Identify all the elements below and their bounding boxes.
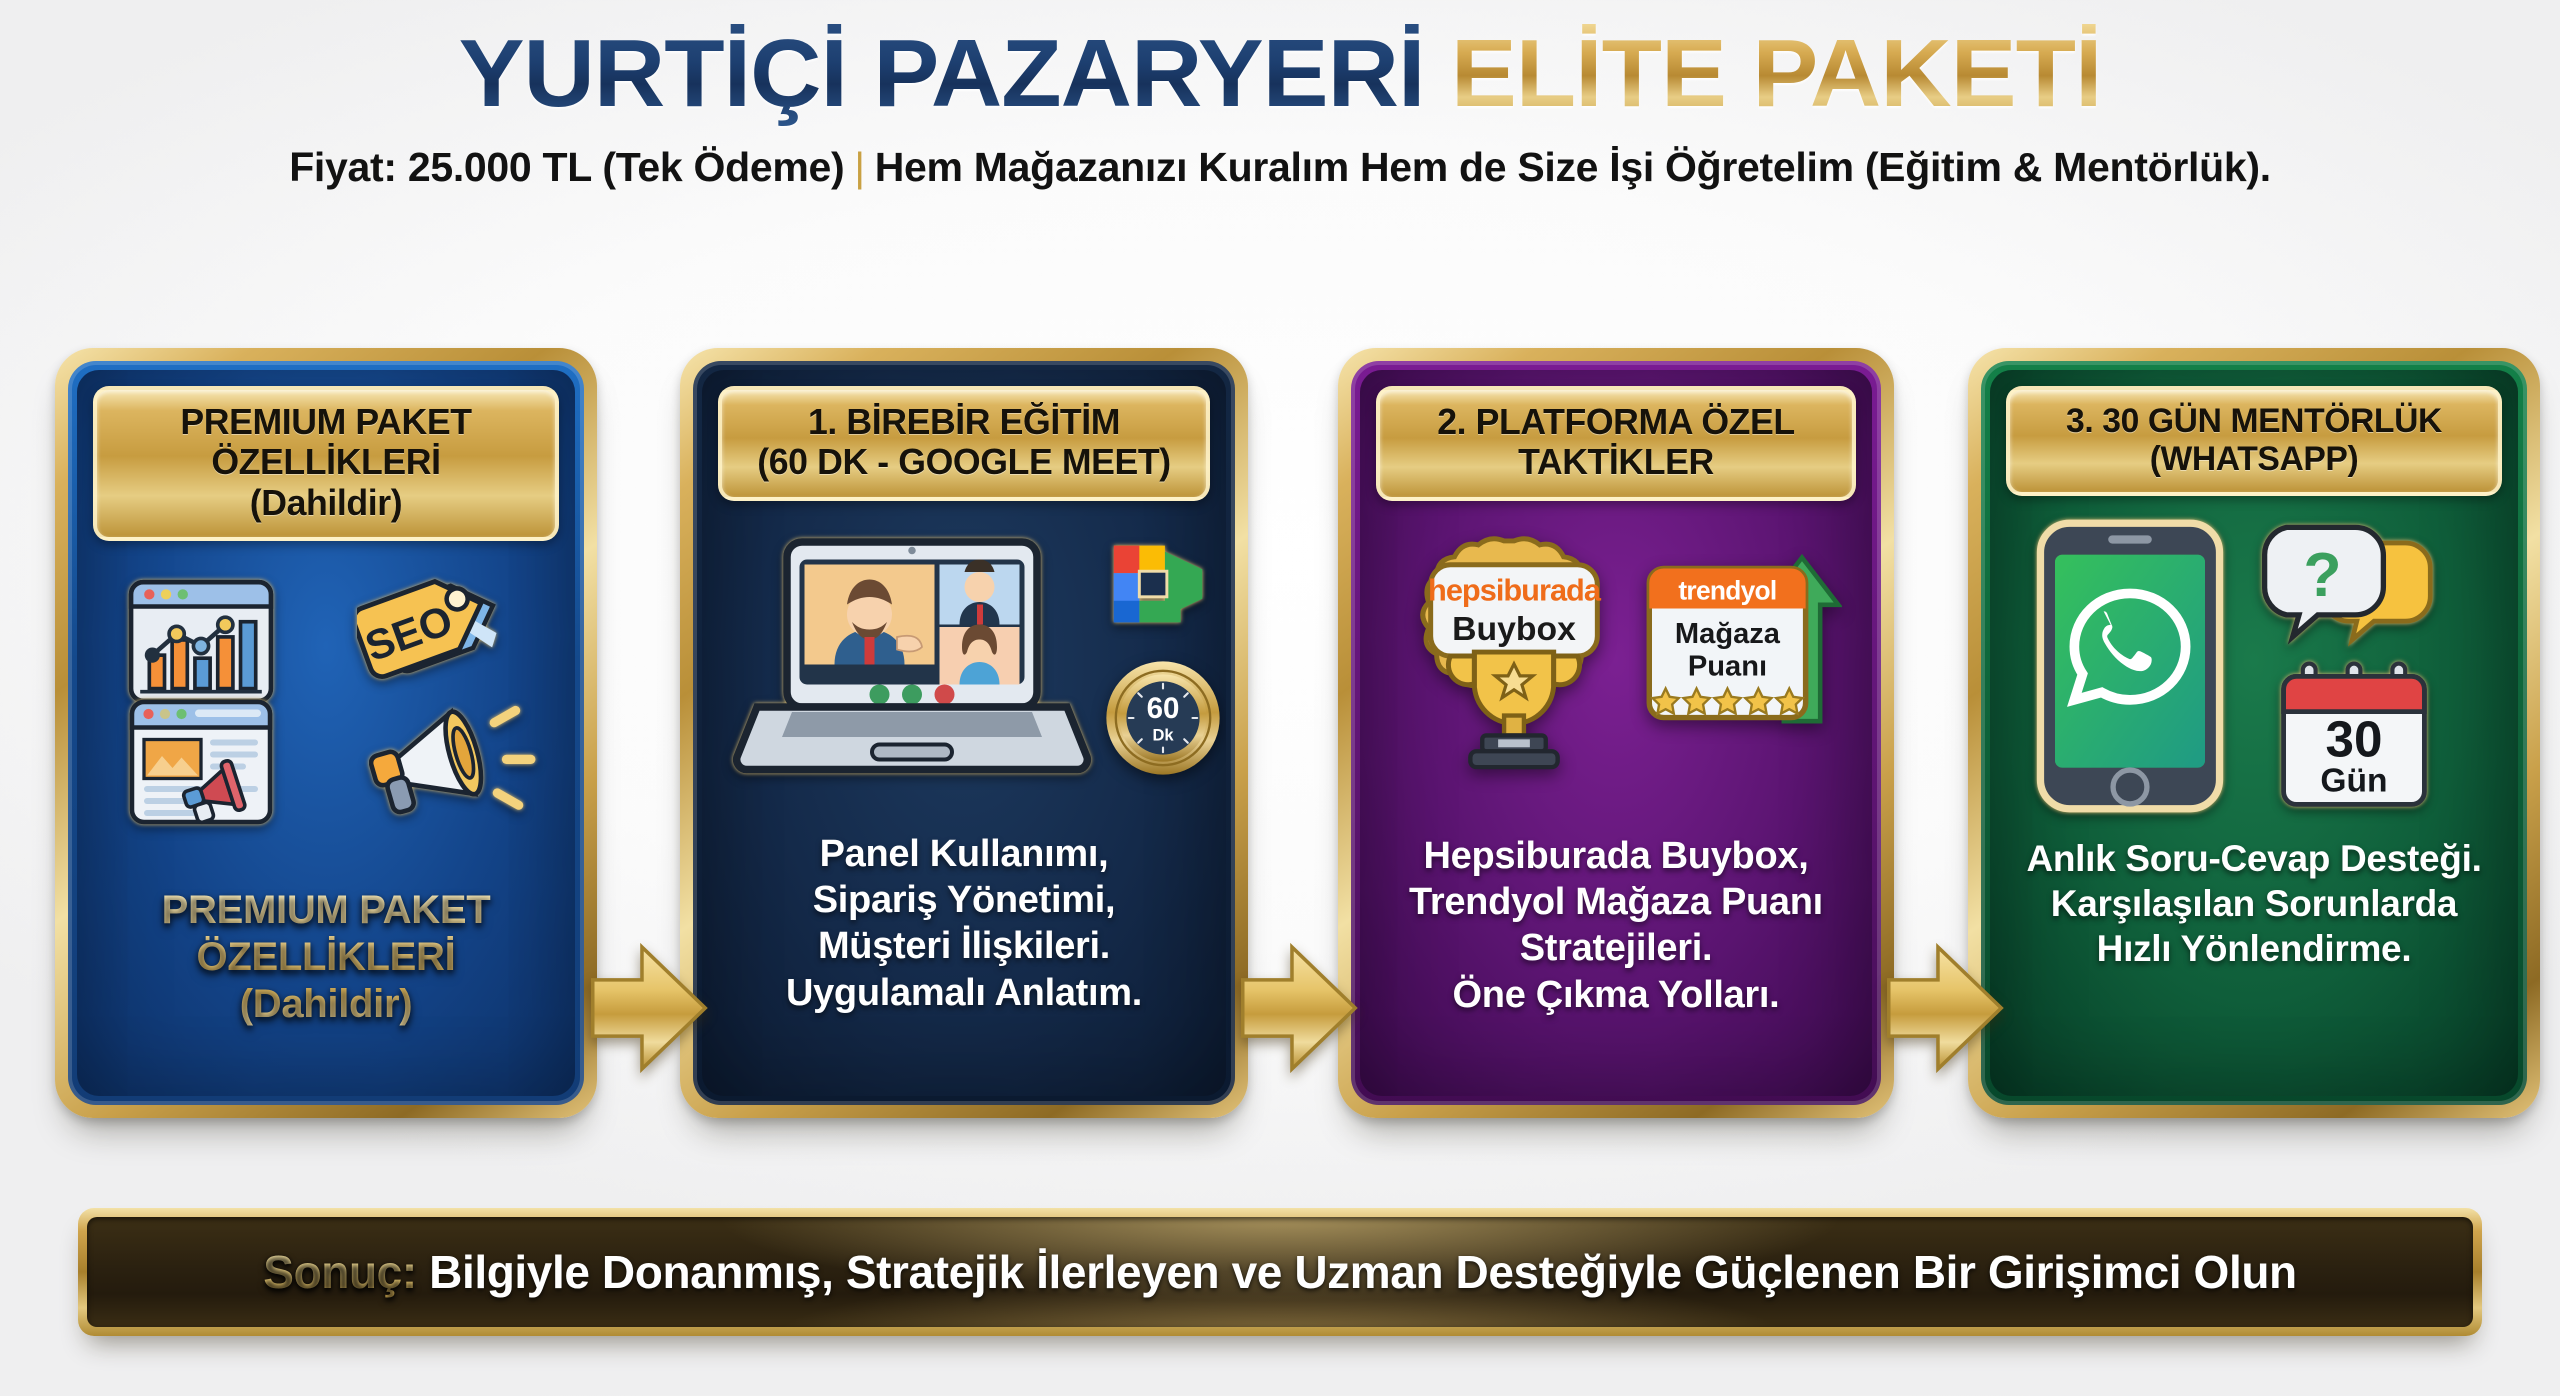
google-meet-icon (1100, 535, 1218, 635)
card-mentorluk[interactable]: 3. 30 GÜN MENTÖRLÜK (WHATSAPP) (1968, 348, 2540, 1118)
card-birebir-egitim[interactable]: 1. BİREBİR EĞİTİM (60 DK - GOOGLE MEET) (680, 348, 1248, 1118)
svg-text:30: 30 (2326, 711, 2383, 768)
footer-message: Bilgiyle Donanmış, Stratejik İlerleyen v… (417, 1246, 2297, 1298)
page-title: YURTİÇİ PAZARYERİ ELİTE PAKETİ (0, 26, 2560, 122)
card-birebir-egitim-body: Panel Kullanımı, Sipariş Yönetimi, Müşte… (702, 831, 1226, 1016)
card-birebir-egitim-header-line1: 1. BİREBİR EĞİTİM (734, 402, 1193, 442)
card-premium-header-line3: (Dahildir) (109, 483, 543, 523)
card-row: PREMIUM PAKET ÖZELLİKLERİ (Dahildir) (0, 348, 2560, 1118)
svg-text:Puanı: Puanı (1688, 650, 1767, 682)
card-platforma-body-line3: Stratejileri. (1382, 925, 1850, 971)
duration-badge-icon: 60 Dk (1104, 659, 1222, 777)
footer-banner: Sonuç: Bilgiyle Donanmış, Stratejik İler… (78, 1208, 2482, 1336)
flow-arrow-3 (1886, 933, 2004, 1083)
card-mentorluk-icons: ? 30 Gün (1990, 502, 2518, 832)
card-birebir-egitim-face: 1. BİREBİR EĞİTİM (60 DK - GOOGLE MEET) (702, 370, 1226, 1096)
arrow-right-icon (590, 933, 708, 1083)
card-birebir-egitim-body-line3: Müşteri İlişkileri. (724, 923, 1204, 969)
svg-text:hepsiburada: hepsiburada (1428, 572, 1602, 607)
card-mentorluk-header-line2: (WHATSAPP) (2022, 440, 2485, 478)
card-birebir-egitim-header-line2: (60 DK - GOOGLE MEET) (734, 442, 1193, 482)
card-mentorluk-header-plaque: 3. 30 GÜN MENTÖRLÜK (WHATSAPP) (2006, 386, 2502, 496)
page-subtitle: Fiyat: 25.000 TL (Tek Ödeme)|Hem Mağazan… (0, 144, 2560, 191)
card-birebir-egitim-inner: 1. BİREBİR EĞİTİM (60 DK - GOOGLE MEET) (693, 361, 1235, 1105)
seo-tag-icon: SEO (357, 559, 525, 709)
card-platforma-icons: hepsiburada Buybox (1360, 507, 1872, 827)
arrow-right-icon (1886, 933, 2004, 1083)
card-premium-header-plaque: PREMIUM PAKET ÖZELLİKLERİ (Dahildir) (93, 386, 559, 541)
card-birebir-egitim-body-line2: Sipariş Yönetimi, (724, 877, 1204, 923)
laptop-video-call-icon (732, 537, 1092, 787)
card-birebir-egitim-body-line4: Uygulamalı Anlatım. (724, 970, 1204, 1016)
svg-text:?: ? (2303, 540, 2341, 610)
card-premium[interactable]: PREMIUM PAKET ÖZELLİKLERİ (Dahildir) (55, 348, 597, 1118)
price-text: Fiyat: 25.000 TL (Tek Ödeme) (289, 144, 844, 190)
card-mentorluk-body: Anlık Soru-Cevap Desteği. Karşılaşılan S… (1990, 836, 2518, 971)
card-platforma-header-line2: TAKTİKLER (1392, 442, 1839, 482)
card-premium-face: PREMIUM PAKET ÖZELLİKLERİ (Dahildir) (77, 370, 575, 1096)
card-mentorluk-body-line2: Karşılaşılan Sorunlarda (2012, 881, 2496, 926)
svg-text:60: 60 (1147, 692, 1180, 725)
whatsapp-phone-icon (2032, 516, 2228, 816)
card-birebir-egitim-body-line1: Panel Kullanımı, (724, 831, 1204, 877)
card-platforma-face: 2. PLATFORMA ÖZEL TAKTİKLER hepsiburada … (1360, 370, 1872, 1096)
card-mentorluk-header-line1: 3. 30 GÜN MENTÖRLÜK (2022, 402, 2485, 440)
card-platforma-body-line2: Trendyol Mağaza Puanı (1382, 879, 1850, 925)
question-chat-bubble-icon: ? (2254, 518, 2444, 668)
card-mentorluk-body-line1: Anlık Soru-Cevap Desteği. (2012, 836, 2496, 881)
card-premium-header-line2: ÖZELLİKLERİ (109, 442, 543, 482)
card-premium-header-line1: PREMIUM PAKET (109, 402, 543, 442)
card-premium-inner: PREMIUM PAKET ÖZELLİKLERİ (Dahildir) (68, 361, 584, 1105)
card-platforma-header-line1: 2. PLATFORMA ÖZEL (1392, 402, 1839, 442)
card-platforma-body-line4: Öne Çıkma Yolları. (1382, 972, 1850, 1018)
card-platforma-inner: 2. PLATFORMA ÖZEL TAKTİKLER hepsiburada … (1351, 361, 1881, 1105)
card-platforma-body: Hepsiburada Buybox, Trendyol Mağaza Puan… (1360, 833, 1872, 1018)
card-mentorluk-body-line3: Hızlı Yönlendirme. (2012, 926, 2496, 971)
svg-text:Dk: Dk (1152, 726, 1174, 744)
hepsiburada-buybox-trophy-icon: hepsiburada Buybox (1394, 533, 1634, 783)
svg-text:trendyol: trendyol (1678, 575, 1776, 605)
card-platforma-body-line1: Hepsiburada Buybox, (1382, 833, 1850, 879)
card-platforma-ozel-taktikler[interactable]: 2. PLATFORMA ÖZEL TAKTİKLER hepsiburada … (1338, 348, 1894, 1118)
svg-text:Gün: Gün (2320, 763, 2387, 800)
title-accent: ELİTE PAKETİ (1451, 20, 2102, 127)
card-mentorluk-face: 3. 30 GÜN MENTÖRLÜK (WHATSAPP) (1990, 370, 2518, 1096)
footer-lead: Sonuç: (263, 1246, 416, 1298)
card-premium-body: PREMIUM PAKET ÖZELLİKLERİ (Dahildir) (77, 887, 575, 1029)
card-premium-icons: SEO (77, 547, 575, 877)
card-mentorluk-inner: 3. 30 GÜN MENTÖRLÜK (WHATSAPP) (1981, 361, 2527, 1105)
flow-arrow-1 (590, 933, 708, 1083)
card-platforma-header-plaque: 2. PLATFORMA ÖZEL TAKTİKLER (1376, 386, 1856, 501)
card-premium-body-line2: ÖZELLİKLERİ (99, 934, 553, 981)
arrow-right-icon (1240, 933, 1358, 1083)
footer-banner-inner: Sonuç: Bilgiyle Donanmış, Stratejik İler… (87, 1217, 2473, 1327)
page-header: YURTİÇİ PAZARYERİ ELİTE PAKETİ Fiyat: 25… (0, 0, 2560, 191)
card-premium-body-line1: PREMIUM PAKET (99, 887, 553, 934)
footer-banner-text: Sonuç: Bilgiyle Donanmış, Stratejik İler… (263, 1245, 2296, 1299)
calendar-30-days-icon: 30 Gün (2274, 654, 2434, 814)
trendyol-store-rating-icon: trendyol Mağaza Puanı (1642, 543, 1842, 743)
subtitle-separator: | (854, 144, 864, 190)
card-premium-body-line3: (Dahildir) (99, 981, 553, 1028)
svg-text:Mağaza: Mağaza (1675, 618, 1781, 650)
flow-arrow-2 (1240, 933, 1358, 1083)
megaphone-icon (369, 697, 537, 837)
tagline-text: Hem Mağazanızı Kuralım Hem de Size İşi Ö… (875, 144, 2271, 190)
card-birebir-egitim-header-plaque: 1. BİREBİR EĞİTİM (60 DK - GOOGLE MEET) (718, 386, 1210, 501)
title-primary: YURTİÇİ PAZARYERİ (459, 20, 1425, 127)
website-layout-icon (125, 687, 277, 837)
card-birebir-egitim-icons: 60 Dk (702, 507, 1226, 807)
svg-text:Buybox: Buybox (1452, 610, 1576, 648)
